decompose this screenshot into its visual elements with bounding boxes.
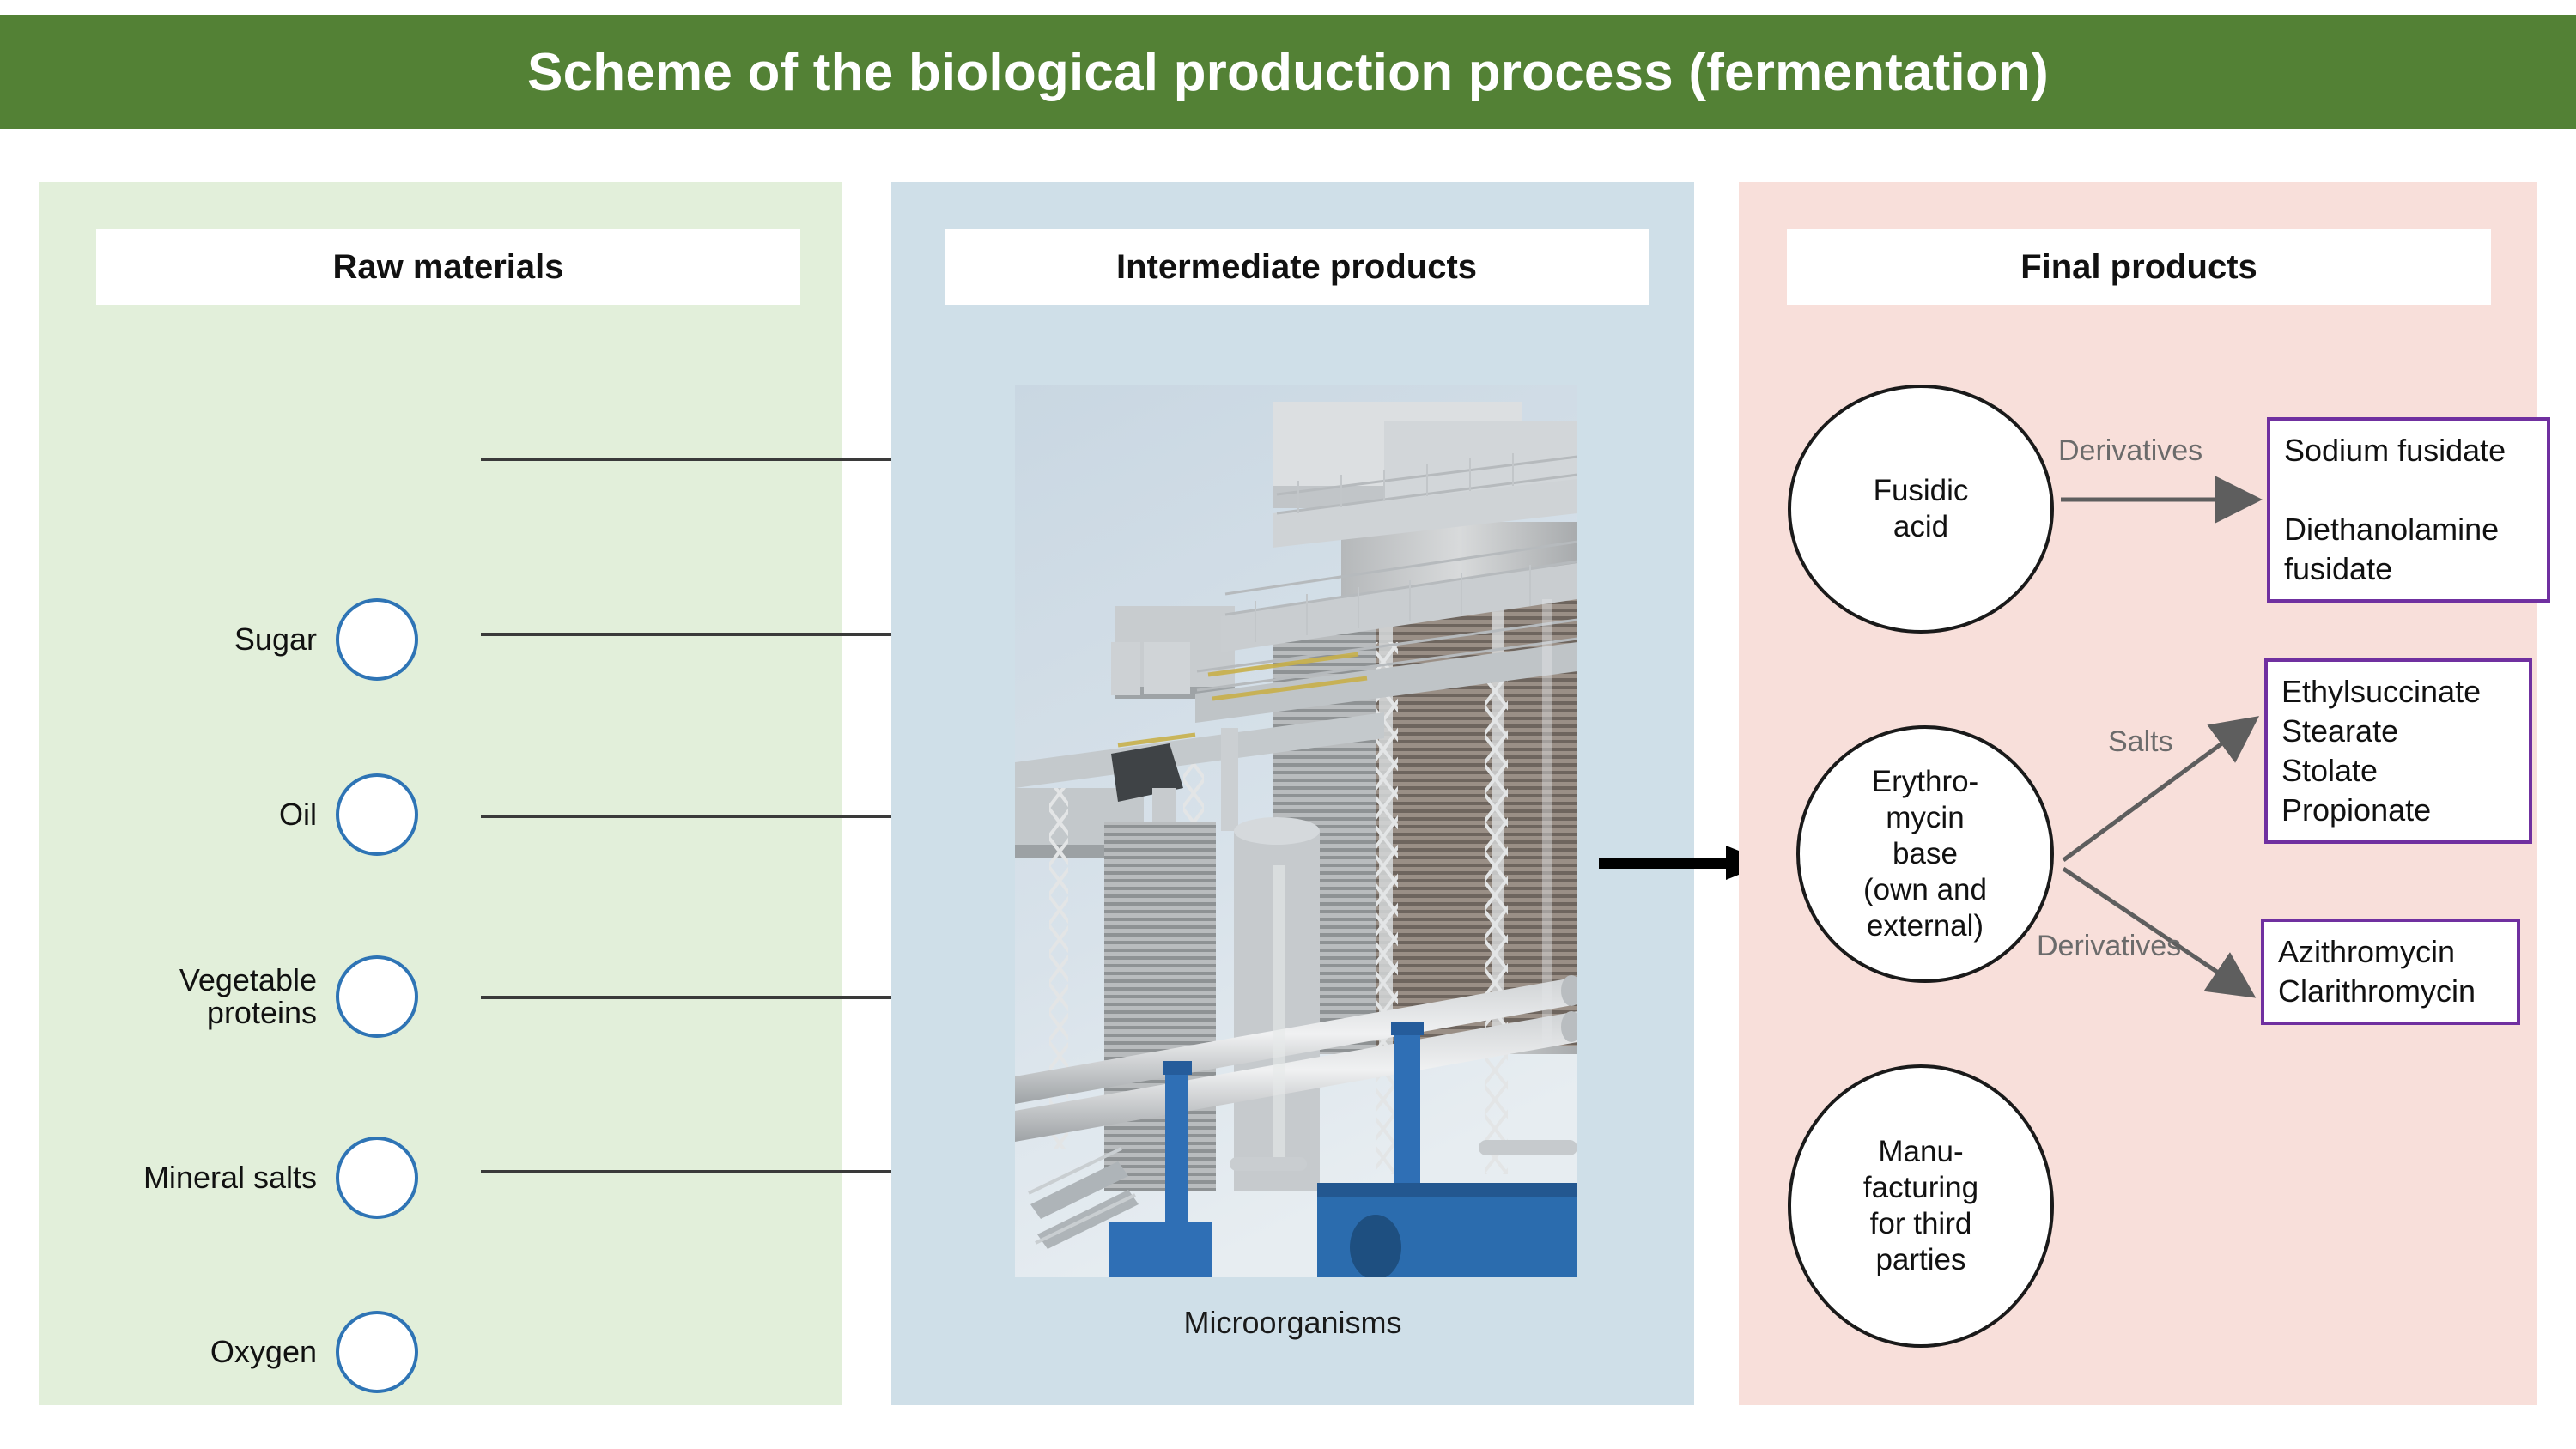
raw-material-label-sugar: Sugar bbox=[39, 623, 336, 656]
final-box-fusidate[interactable]: Sodium fusidate Diethanolamine fusidate bbox=[2267, 417, 2550, 603]
title-banner: Scheme of the biological production proc… bbox=[0, 15, 2576, 129]
relation-label-salts: Salts bbox=[2108, 725, 2173, 759]
relation-label-fusidic-derivatives: Derivatives bbox=[2058, 434, 2202, 468]
raw-material-row-mineral-salts[interactable]: Mineral salts bbox=[39, 1141, 842, 1215]
raw-material-bubble-oil[interactable] bbox=[336, 773, 418, 856]
relation-label-erythromycin-derivatives: Derivatives bbox=[2037, 930, 2181, 963]
final-products-header-label: Final products bbox=[2020, 248, 2257, 287]
raw-material-bubble-vegetable-proteins[interactable] bbox=[336, 955, 418, 1038]
final-box-salts-lines: Ethylsuccinate Stearate Stolate Propiona… bbox=[2281, 674, 2481, 828]
photo-caption: Microorganisms bbox=[891, 1305, 1694, 1341]
final-box-derivatives[interactable]: Azithromycin Clarithromycin bbox=[2261, 919, 2520, 1025]
raw-material-row-vegetable-proteins[interactable]: Vegetable proteins bbox=[39, 960, 842, 1034]
raw-material-label-vegetable-proteins: Vegetable proteins bbox=[39, 964, 336, 1029]
final-node-erythromycin-base[interactable]: Erythro- mycin base (own and external) bbox=[1796, 725, 2054, 983]
intermediate-products-header-label: Intermediate products bbox=[1116, 248, 1477, 287]
final-box-salts[interactable]: Ethylsuccinate Stearate Stolate Propiona… bbox=[2264, 658, 2532, 844]
final-box-derivatives-lines: Azithromycin Clarithromycin bbox=[2278, 934, 2476, 1009]
raw-material-bubble-oxygen[interactable] bbox=[336, 1311, 418, 1393]
final-box-fusidate-lines: Sodium fusidate Diethanolamine fusidate bbox=[2284, 433, 2506, 586]
final-node-fusidic-acid[interactable]: Fusidic acid bbox=[1788, 385, 2054, 634]
raw-material-label-oxygen: Oxygen bbox=[39, 1336, 336, 1368]
final-node-manufacturing-third-parties-label: Manu- facturing for third parties bbox=[1863, 1134, 1978, 1278]
raw-material-row-sugar[interactable]: Sugar bbox=[39, 603, 842, 676]
final-node-erythromycin-base-label: Erythro- mycin base (own and external) bbox=[1863, 764, 1987, 944]
raw-material-bubble-mineral-salts[interactable] bbox=[336, 1137, 418, 1219]
fermentation-plant-photo bbox=[1015, 385, 1577, 1277]
raw-materials-header-label: Raw materials bbox=[332, 248, 563, 287]
final-products-header: Final products bbox=[1787, 229, 2491, 305]
final-node-manufacturing-third-parties[interactable]: Manu- facturing for third parties bbox=[1788, 1064, 2054, 1348]
intermediate-products-header: Intermediate products bbox=[945, 229, 1649, 305]
raw-material-row-oxygen[interactable]: Oxygen bbox=[39, 1315, 842, 1389]
raw-material-bubble-sugar[interactable] bbox=[336, 598, 418, 681]
raw-material-label-oil: Oil bbox=[39, 798, 336, 831]
final-node-fusidic-acid-label: Fusidic acid bbox=[1874, 473, 1969, 545]
raw-materials-panel: Raw materials Sugar Oil Vegetable protei… bbox=[39, 182, 842, 1405]
raw-material-label-mineral-salts: Mineral salts bbox=[39, 1161, 336, 1194]
raw-material-row-oil[interactable]: Oil bbox=[39, 778, 842, 852]
raw-materials-header: Raw materials bbox=[96, 229, 800, 305]
page-title: Scheme of the biological production proc… bbox=[527, 42, 2049, 103]
